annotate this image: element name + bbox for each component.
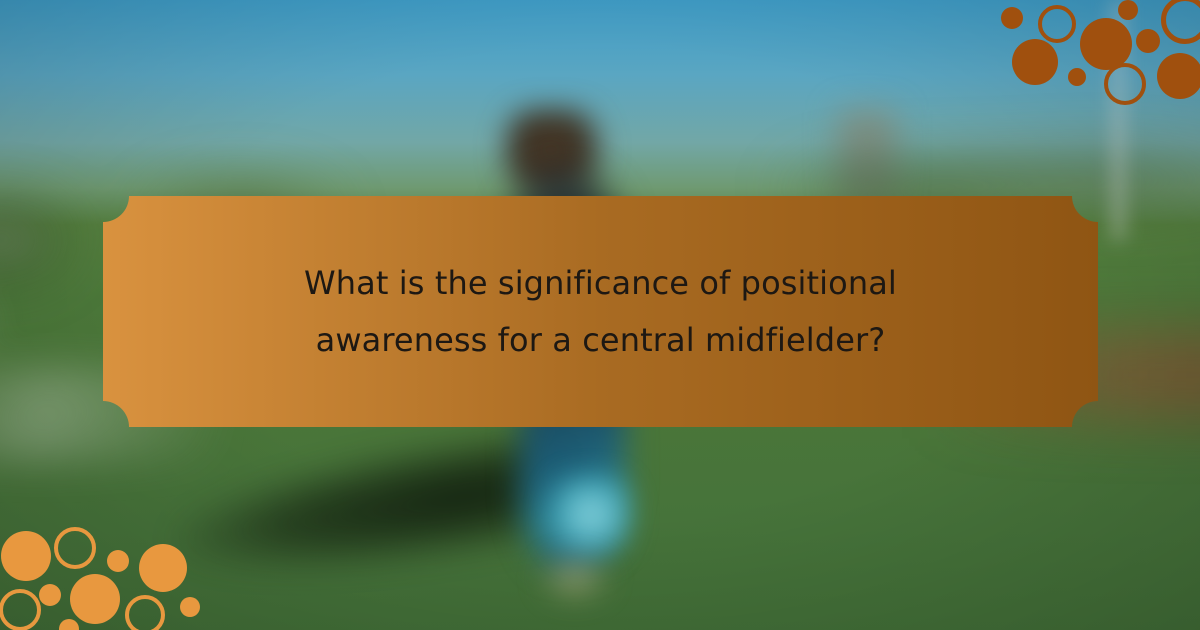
question-line-2: awareness for a central midfielder? (316, 312, 886, 369)
question-card: What is the significance of positional a… (0, 0, 1200, 630)
question-line-1: What is the significance of positional (304, 255, 897, 312)
question-text-block: What is the significance of positional a… (103, 196, 1098, 427)
question-banner: What is the significance of positional a… (103, 196, 1098, 427)
